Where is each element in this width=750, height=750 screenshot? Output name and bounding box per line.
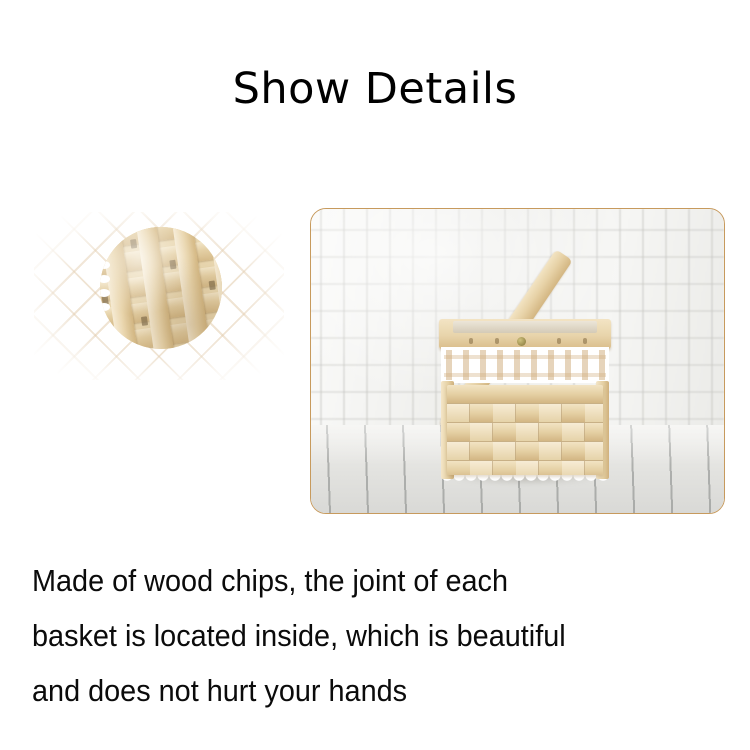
product-detail-page: Show Details	[0, 0, 750, 750]
product-photo-panel	[310, 208, 725, 514]
lace-scalloped-edge	[441, 475, 609, 486]
closeup-detail-block	[34, 212, 284, 380]
product-description: Made of wood chips, the joint of each ba…	[32, 553, 722, 718]
circle-highlight	[100, 227, 222, 349]
basket-liner	[453, 321, 597, 333]
lace-trim	[441, 347, 609, 383]
description-line-1: Made of wood chips, the joint of each	[32, 553, 674, 608]
basket-rim	[439, 319, 611, 349]
description-line-2: basket is located inside, which is beaut…	[32, 608, 674, 663]
basket-woven-body	[447, 385, 603, 475]
page-title: Show Details	[0, 66, 750, 113]
handle-screw	[517, 337, 526, 346]
weave-closeup-circle	[100, 227, 222, 349]
wooden-basket	[439, 319, 611, 481]
description-line-3: and does not hurt your hands	[32, 663, 674, 718]
